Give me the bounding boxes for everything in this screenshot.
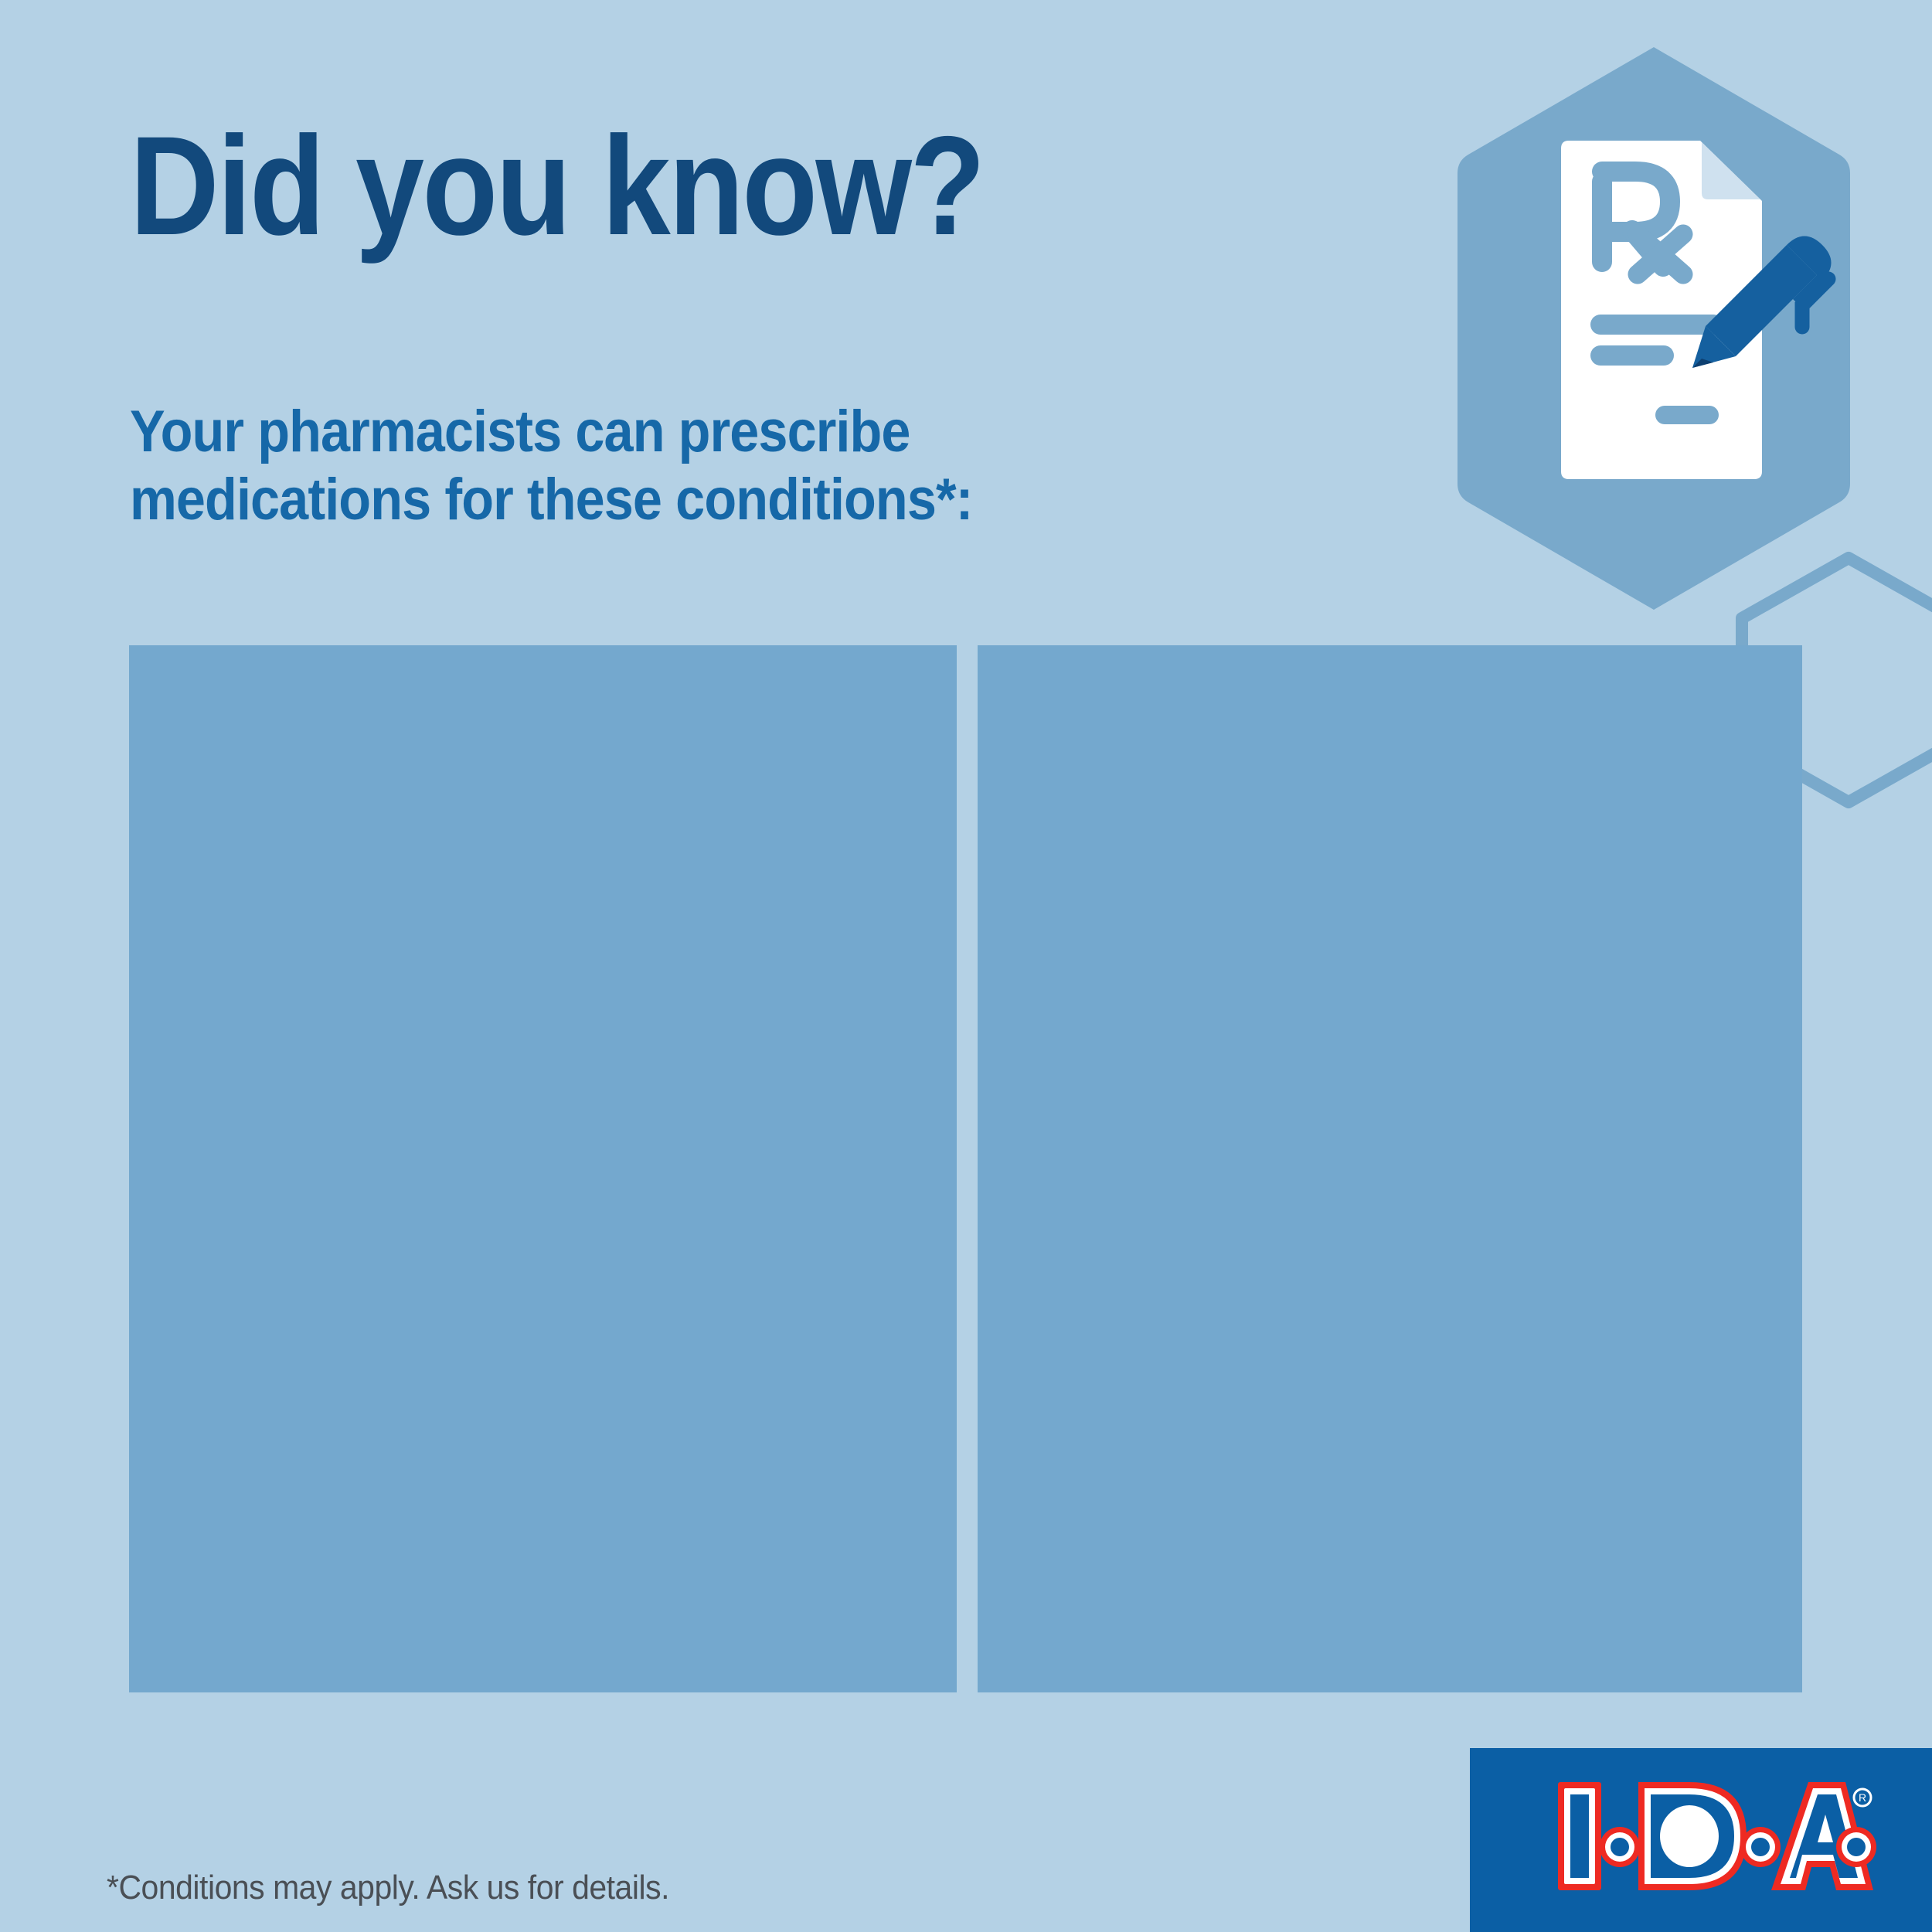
page-subtitle: Your pharmacists can prescribe medicatio… [130, 398, 1312, 534]
conditions-panel-group [129, 645, 1802, 1692]
ida-logo-block: R [1470, 1748, 1932, 1932]
disclaimer-text: *Conditions may apply. Ask us for detail… [107, 1869, 669, 1907]
registered-mark-icon: R [1854, 1789, 1871, 1806]
svg-text:R: R [1859, 1791, 1866, 1804]
conditions-panel-left [129, 645, 957, 1692]
conditions-panel-left-text [129, 645, 957, 1692]
page-subtitle-line-1: Your pharmacists can prescribe [130, 398, 1312, 466]
page-title: Did you know? [130, 114, 1218, 258]
rx-prescription-badge [1453, 43, 1855, 614]
poster-canvas: Did you know? Your pharmacists can presc… [0, 0, 1932, 1932]
conditions-panel-right [978, 645, 1802, 1692]
page-subtitle-line-2: medications for these conditions*: [130, 466, 1312, 534]
ida-logo-icon: R [1553, 1777, 1878, 1895]
conditions-panel-right-text [978, 645, 1802, 1692]
